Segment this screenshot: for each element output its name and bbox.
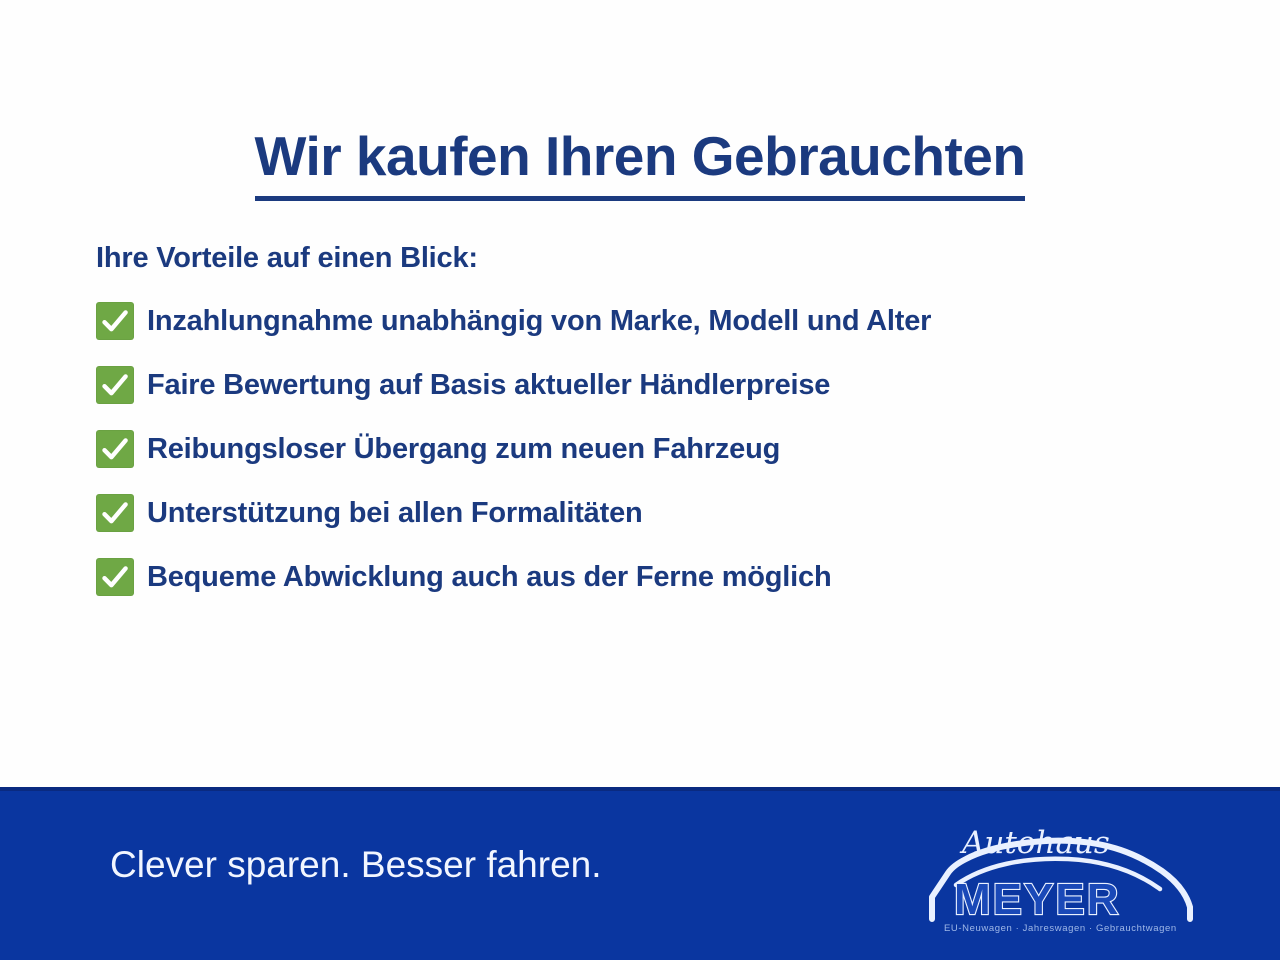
check-square-icon bbox=[96, 494, 134, 532]
dealer-logo: Autohaus MEYER EU-Neuwagen · Jahreswagen… bbox=[922, 811, 1202, 939]
logo-brand-name: MEYER bbox=[954, 875, 1120, 924]
list-item-label: Inzahlungnahme unabhängig von Marke, Mod… bbox=[147, 304, 931, 338]
list-item: Bequeme Abwicklung auch aus der Ferne mö… bbox=[96, 557, 1226, 597]
check-square-icon bbox=[96, 366, 134, 404]
promo-page: Wir kaufen Ihren Gebrauchten Ihre Vortei… bbox=[0, 0, 1280, 960]
list-item-label: Faire Bewertung auf Basis aktueller Händ… bbox=[147, 368, 830, 402]
check-square-icon bbox=[96, 558, 134, 596]
list-item-label: Bequeme Abwicklung auch aus der Ferne mö… bbox=[147, 560, 831, 594]
list-item-label: Unterstützung bei allen Formalitäten bbox=[147, 496, 643, 530]
list-item: Inzahlungnahme unabhängig von Marke, Mod… bbox=[96, 301, 1226, 341]
page-title: Wir kaufen Ihren Gebrauchten bbox=[255, 125, 1026, 201]
check-square-icon bbox=[96, 302, 134, 340]
footer-bar: Clever sparen. Besser fahren. Autohaus M… bbox=[0, 787, 1280, 960]
list-item: Unterstützung bei allen Formalitäten bbox=[96, 493, 1226, 533]
benefits-list: Inzahlungnahme unabhängig von Marke, Mod… bbox=[96, 301, 1226, 597]
logo-script-text: Autohaus bbox=[959, 825, 1110, 861]
benefits-section: Ihre Vorteile auf einen Blick: Inzahlung… bbox=[96, 241, 1226, 621]
footer-slogan: Clever sparen. Besser fahren. bbox=[110, 843, 602, 887]
benefits-subtitle: Ihre Vorteile auf einen Blick: bbox=[96, 241, 1226, 275]
list-item: Faire Bewertung auf Basis aktueller Händ… bbox=[96, 365, 1226, 405]
check-square-icon bbox=[96, 430, 134, 468]
list-item-label: Reibungsloser Übergang zum neuen Fahrzeu… bbox=[147, 432, 780, 466]
page-header: Wir kaufen Ihren Gebrauchten bbox=[0, 88, 1280, 238]
logo-tagline: EU-Neuwagen · Jahreswagen · Gebrauchtwag… bbox=[944, 923, 1177, 934]
list-item: Reibungsloser Übergang zum neuen Fahrzeu… bbox=[96, 429, 1226, 469]
